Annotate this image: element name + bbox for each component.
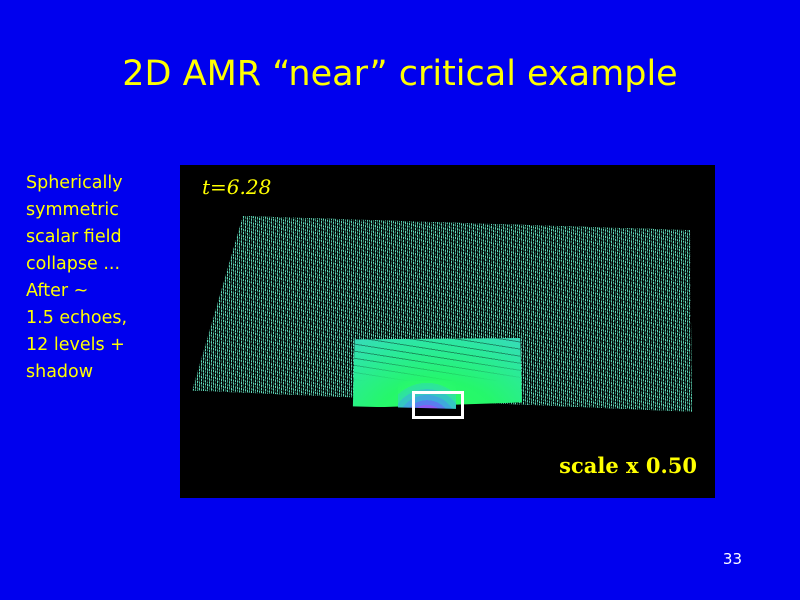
page-number: 33	[723, 550, 742, 568]
amr-surface-plot	[180, 165, 715, 498]
caption-line: symmetric	[26, 197, 176, 224]
scale-label: scale x 0.50	[559, 453, 697, 478]
caption-line: collapse ...	[26, 251, 176, 278]
caption-line: After ~	[26, 278, 176, 305]
visualization-panel: t=6.28 scale x 0.50	[180, 165, 715, 498]
caption-line: 1.5 echoes,	[26, 305, 176, 332]
page-title: 2D AMR “near” critical example	[0, 54, 800, 94]
caption-line: Spherically	[26, 170, 176, 197]
caption-line: scalar field	[26, 224, 176, 251]
caption-line: 12 levels +	[26, 332, 176, 359]
time-label: t=6.28	[202, 175, 271, 199]
slide: 2D AMR “near” critical example Spherical…	[0, 0, 800, 600]
caption-text-block: Spherically symmetric scalar field colla…	[26, 170, 176, 386]
peak-highlight-box	[412, 391, 464, 419]
caption-line: shadow	[26, 359, 176, 386]
